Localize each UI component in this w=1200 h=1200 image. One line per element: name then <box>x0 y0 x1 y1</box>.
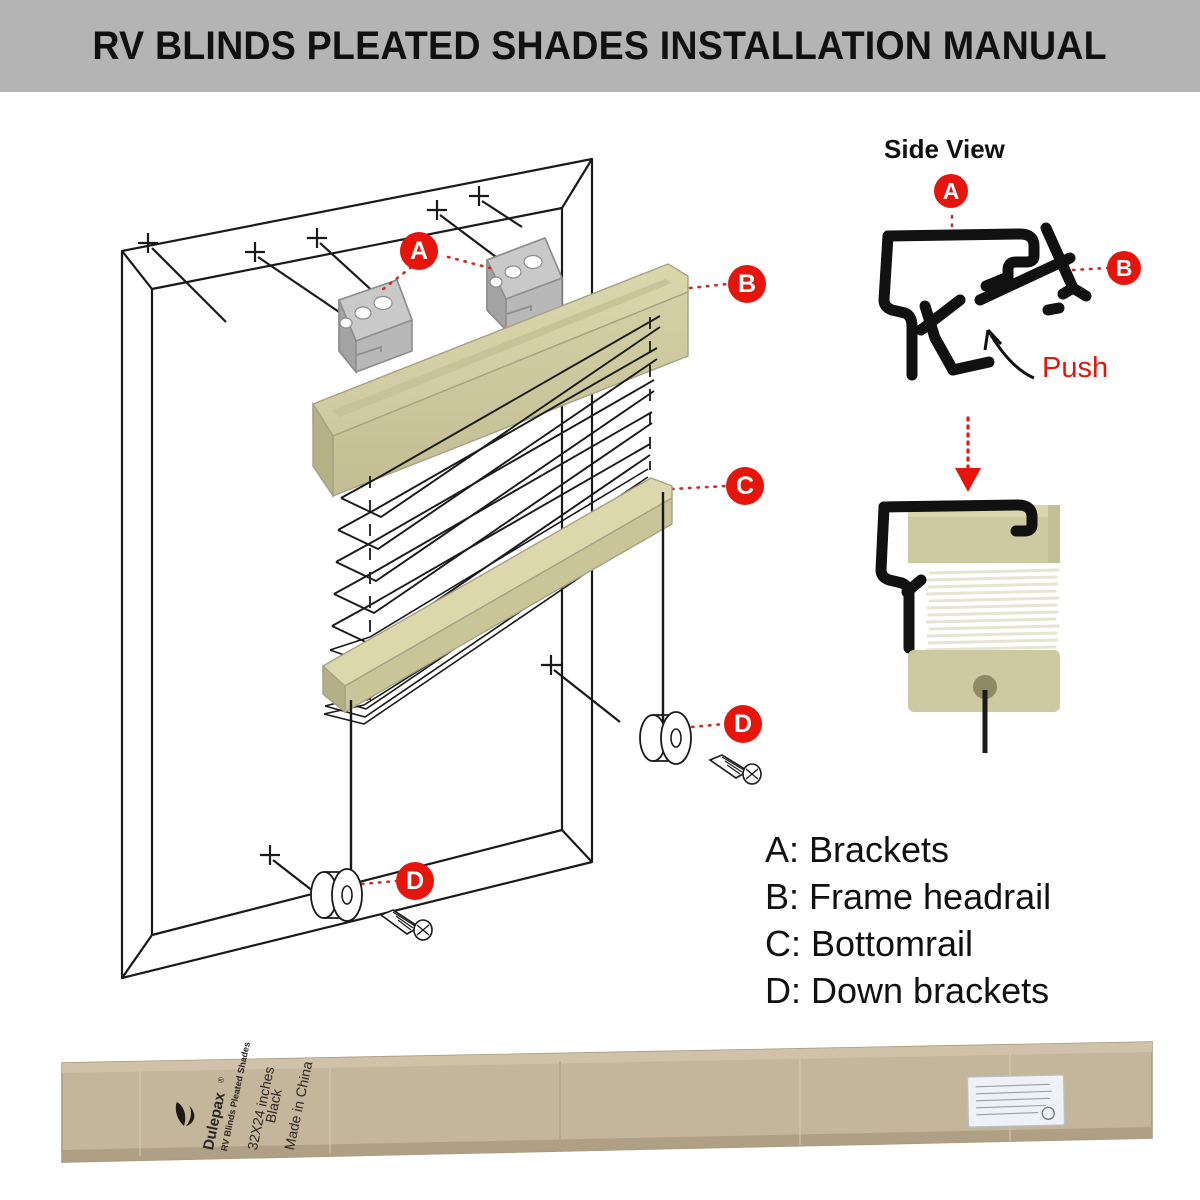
marker-b-side-view[interactable]: B <box>1107 251 1141 285</box>
marker-d-left[interactable]: D <box>396 862 434 900</box>
side-view-title: Side View <box>884 134 1005 165</box>
pull-cords <box>351 492 663 884</box>
bottomrail <box>323 478 672 712</box>
installed-clip-profile <box>881 505 1032 648</box>
installed-pleats <box>927 570 1058 664</box>
side-view-diagram <box>0 0 1200 1200</box>
warning-label <box>967 1075 1064 1127</box>
main-diagram <box>0 0 1200 1200</box>
side-view-installed <box>0 0 1200 1200</box>
marker-c-main[interactable]: C <box>726 467 764 505</box>
package-origin: Made in China <box>281 1060 315 1152</box>
screw-right <box>710 755 761 784</box>
bracket-profile-tilted <box>921 228 1086 370</box>
down-bracket-left <box>311 869 362 921</box>
pleated-shade <box>324 316 660 724</box>
legend-item-b: B: Frame headrail <box>765 873 1165 920</box>
down-bracket-right <box>640 712 691 764</box>
push-arrow <box>985 330 1034 378</box>
frame-headrail <box>313 264 688 496</box>
legend: A: Brackets B: Frame headrail C: Bottomr… <box>765 826 1165 1014</box>
marker-leaders <box>362 257 728 884</box>
screw-left <box>381 910 432 940</box>
legend-item-d: D: Down brackets <box>765 967 1165 1014</box>
marker-d-right[interactable]: D <box>724 705 762 743</box>
mounting-leaders <box>138 186 620 895</box>
side-view-leader-b <box>1073 268 1107 270</box>
legend-item-c: C: Bottomrail <box>765 920 1165 967</box>
page-title: RV BLINDS PLEATED SHADES INSTALLATION MA… <box>93 24 1107 69</box>
insert-direction-arrow <box>955 418 981 492</box>
brand-leaf-icon <box>172 1102 197 1128</box>
installed-headrail <box>908 505 1060 563</box>
headrail-profile <box>884 234 1034 375</box>
bracket-left <box>339 280 412 372</box>
bracket-right <box>487 238 562 330</box>
installed-bottomrail <box>908 650 1060 712</box>
package-brand-mark: ® <box>216 1076 226 1084</box>
marker-b-main[interactable]: B <box>728 265 766 303</box>
marker-a-side-view[interactable]: A <box>934 174 968 208</box>
header-banner: RV BLINDS PLEATED SHADES INSTALLATION MA… <box>0 0 1200 92</box>
marker-a-main[interactable]: A <box>400 232 438 270</box>
window-frame <box>122 159 592 978</box>
package-photo <box>0 0 1200 1200</box>
legend-item-a: A: Brackets <box>765 826 1165 873</box>
push-label: Push <box>1042 352 1108 385</box>
